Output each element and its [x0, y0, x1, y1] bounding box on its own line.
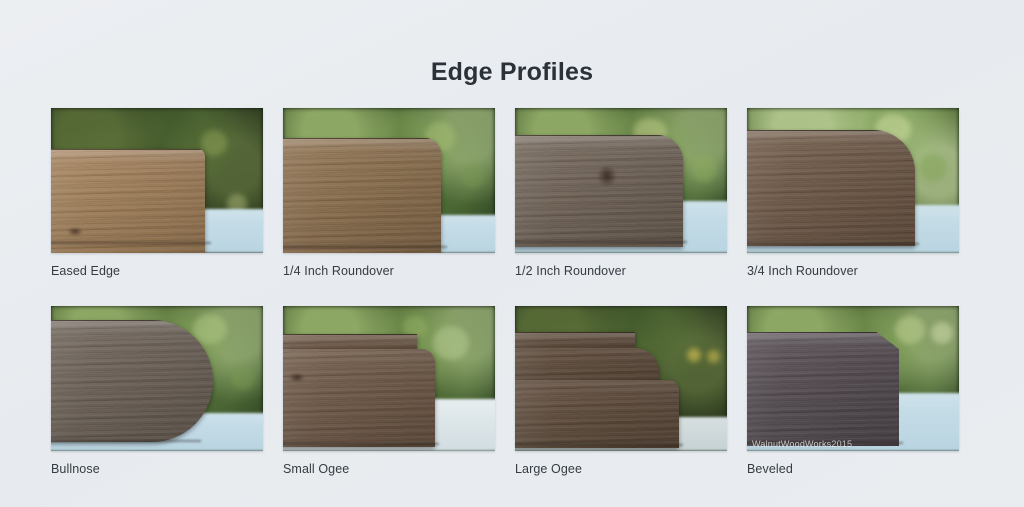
wood-knot	[67, 227, 83, 236]
board-shadow	[51, 440, 201, 443]
wood-board-large-ogee-body	[515, 380, 679, 448]
bokeh-highlight	[931, 322, 953, 344]
page-title: Edge Profiles	[0, 58, 1024, 87]
board-sheen	[51, 149, 205, 253]
photo-half-inch-roundover[interactable]	[515, 108, 727, 253]
gallery-item-quarter-inch-roundover[interactable]: 1/4 Inch Roundover	[283, 108, 495, 279]
wood-board-small-ogee-body	[283, 349, 435, 447]
gallery-item-large-ogee[interactable]: Large Ogee	[515, 306, 727, 477]
board-sheen	[515, 380, 679, 448]
board-shadow	[515, 444, 683, 447]
bokeh-highlight	[231, 366, 255, 390]
board-shadow	[283, 246, 447, 249]
board-sheen	[747, 130, 915, 246]
gallery-item-small-ogee[interactable]: Small Ogee	[283, 306, 495, 477]
board-shadow	[51, 242, 211, 245]
gallery-item-eased-edge[interactable]: Eased Edge	[51, 108, 263, 279]
board-sheen	[51, 320, 213, 442]
caption-half-inch-roundover: 1/2 Inch Roundover	[515, 264, 727, 279]
edge-profiles-page: Edge Profiles Eased Edge	[0, 0, 1024, 507]
photo-beveled[interactable]: WalnutWoodWorks2015	[747, 306, 959, 451]
board-sheen	[515, 348, 659, 382]
wood-board-half-roundover	[515, 135, 683, 247]
gallery-item-bullnose[interactable]: Bullnose	[51, 306, 263, 477]
bokeh-highlight	[433, 326, 469, 360]
bokeh-highlight	[895, 316, 925, 344]
board-top-face	[51, 149, 205, 160]
bokeh-highlight	[707, 350, 720, 363]
board-sheen	[515, 135, 683, 247]
photo-eased-edge[interactable]	[51, 108, 263, 253]
wood-board-three-quarter-roundover	[747, 130, 915, 246]
caption-large-ogee: Large Ogee	[515, 462, 727, 477]
board-shadow	[515, 241, 687, 244]
caption-eased-edge: Eased Edge	[51, 264, 263, 279]
caption-beveled: Beveled	[747, 462, 959, 477]
board-top-face	[515, 332, 635, 343]
gallery-item-half-inch-roundover[interactable]: 1/2 Inch Roundover	[515, 108, 727, 279]
wood-knot	[289, 373, 305, 382]
wood-board-bullnose	[51, 320, 213, 442]
bokeh-highlight	[687, 348, 701, 362]
photo-quarter-inch-roundover[interactable]	[283, 108, 495, 253]
board-top-face	[747, 130, 915, 141]
board-shadow	[283, 443, 439, 446]
caption-small-ogee: Small Ogee	[283, 462, 495, 477]
wood-board-quarter-roundover	[283, 138, 441, 253]
bokeh-highlight	[691, 156, 717, 182]
board-sheen	[747, 332, 899, 446]
watermark-text: WalnutWoodWorks2015	[752, 439, 852, 449]
board-top-face	[283, 334, 417, 345]
board-top-face	[515, 135, 683, 146]
wood-board-eased-edge	[51, 149, 205, 253]
wood-board-small-ogee-top-step	[283, 334, 417, 350]
board-sheen	[283, 349, 435, 447]
wood-board-beveled	[747, 332, 899, 446]
gallery-item-beveled[interactable]: WalnutWoodWorks2015 Beveled	[747, 306, 959, 477]
board-shadow	[747, 243, 919, 246]
gallery-item-three-quarter-inch-roundover[interactable]: 3/4 Inch Roundover	[747, 108, 959, 279]
caption-bullnose: Bullnose	[51, 462, 263, 477]
photo-small-ogee[interactable]	[283, 306, 495, 451]
board-sheen	[283, 138, 441, 253]
photo-three-quarter-inch-roundover[interactable]	[747, 108, 959, 253]
bokeh-highlight	[919, 154, 947, 182]
board-top-face	[51, 320, 213, 331]
caption-three-quarter-inch-roundover: 3/4 Inch Roundover	[747, 264, 959, 279]
photo-large-ogee[interactable]	[515, 306, 727, 451]
wood-board-large-ogee-cove	[515, 348, 659, 382]
wood-knot	[597, 165, 617, 187]
photo-bullnose[interactable]	[51, 306, 263, 451]
bokeh-highlight	[461, 164, 485, 188]
caption-quarter-inch-roundover: 1/4 Inch Roundover	[283, 264, 495, 279]
board-top-face	[747, 332, 899, 343]
board-top-face	[283, 138, 441, 149]
edge-profile-gallery: Eased Edge 1/4 Inch Roundover	[51, 108, 960, 477]
